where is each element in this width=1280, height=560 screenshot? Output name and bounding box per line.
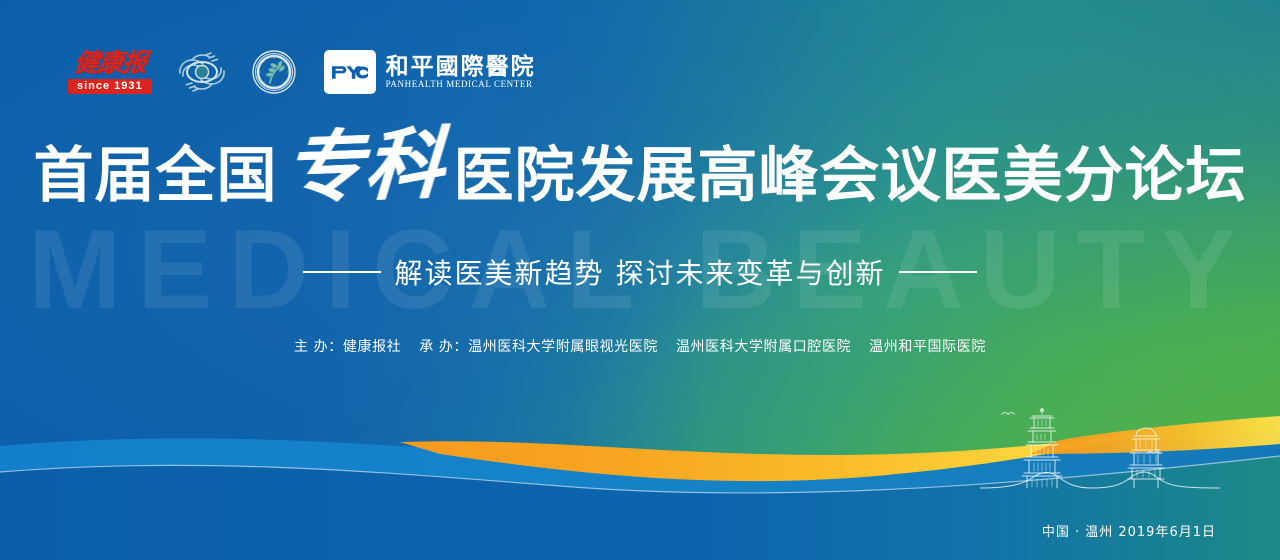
- host-value: 健康报社: [343, 339, 401, 355]
- location-date: 中国 · 温州 2019年6月1日: [1042, 521, 1216, 540]
- pyc-glyph-icon: [330, 59, 370, 86]
- coorganizer-3: 温州和平国际医院: [869, 339, 986, 355]
- panhealth-name-cn: 和平國際醫院: [386, 55, 536, 78]
- sponsor-logo-row: 健康报 since 1931: [68, 44, 536, 100]
- pagoda-left-icon: [1022, 408, 1062, 488]
- wenzhou-skyline-illustration: [980, 392, 1220, 502]
- subtitle: 解读医美新趋势 探讨未来变革与创新: [0, 252, 1280, 292]
- logo-health-news-since: since 1931: [68, 79, 152, 94]
- host-label: 主 办：: [294, 339, 343, 355]
- panhealth-text-block: 和平國際醫院 PANHEALTH MEDICAL CENTER: [386, 55, 536, 89]
- conference-banner: MEDICAL BEAUTY 健康报 since 1931: [0, 0, 1280, 560]
- title-part-2: 医院发展高峰会议医美分论坛: [454, 138, 1247, 214]
- pagoda-right-icon: [1128, 428, 1164, 488]
- skyline-ground: [980, 472, 1220, 488]
- logo-wenzhou-stomatology-hospital: [252, 50, 296, 94]
- subtitle-text: 解读医美新趋势 探讨未来变革与创新: [395, 257, 886, 290]
- coorganizer-label: 承 办：: [419, 339, 468, 355]
- pyc-mark-icon: [324, 50, 376, 94]
- logo-health-news: 健康报 since 1931: [68, 51, 152, 94]
- leaf-seal-icon: [252, 50, 296, 94]
- main-title: 首届全国 专科 医院发展高峰会议医美分论坛: [0, 138, 1280, 214]
- subtitle-rule-left: [303, 271, 381, 273]
- title-part-1: 首届全国: [33, 138, 277, 214]
- organizer-line: 主 办：健康报社承 办：温州医科大学附属眼视光医院温州医科大学附属口腔医院温州和…: [0, 336, 1280, 356]
- title-brush-chars: 专科: [275, 126, 455, 208]
- hands-eye-icon: [176, 46, 228, 98]
- coorganizer-1: 温州医科大学附属眼视光医院: [468, 339, 658, 355]
- coorganizer-2: 温州医科大学附属口腔医院: [676, 339, 851, 355]
- subtitle-rule-right: [899, 271, 977, 273]
- logo-health-news-label: 健康报: [72, 51, 147, 76]
- panhealth-name-en: PANHEALTH MEDICAL CENTER: [386, 80, 536, 89]
- logo-panhealth: 和平國際醫院 PANHEALTH MEDICAL CENTER: [324, 50, 536, 94]
- logo-wenzhou-eye-hospital: [176, 46, 228, 98]
